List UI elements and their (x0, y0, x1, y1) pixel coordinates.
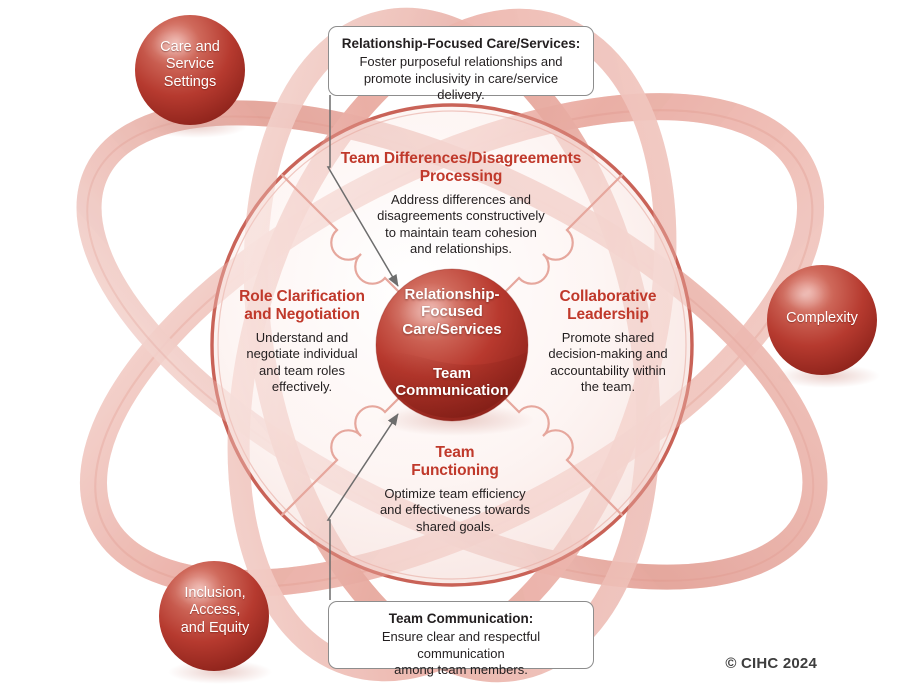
quadrant-body: Promote shared decision-making and accou… (528, 330, 688, 396)
callout-body: Ensure clear and respectful communicatio… (339, 629, 583, 679)
body-line: and effectiveness towards (360, 502, 550, 519)
callout-title: Team Communication: (339, 611, 583, 628)
callout-team-communication: Team Communication: Ensure clear and res… (328, 601, 594, 669)
body-line: to maintain team cohesion (316, 225, 606, 242)
quadrant-title: Team Differences/Disagreements Processin… (316, 150, 606, 186)
quadrant-collaborative-leadership: Collaborative Leadership Promote shared … (528, 288, 688, 396)
callout-title: Relationship-Focused Care/Services: (339, 36, 583, 53)
title-line: Processing (316, 168, 606, 186)
title-line: Leadership (528, 306, 688, 324)
body-line: Promote shared (528, 330, 688, 347)
quadrant-title: Role Clarification and Negotiation (222, 288, 382, 324)
quadrant-body: Address differences and disagreements co… (316, 192, 606, 258)
body-line: decision-making and (528, 346, 688, 363)
callout-body: Foster purposeful relationships and prom… (339, 54, 583, 104)
quadrant-body: Optimize team efficiency and effectivene… (360, 486, 550, 536)
title-line: and Negotiation (222, 306, 382, 324)
sphere-complexity (767, 265, 880, 388)
body-line: the team. (528, 379, 688, 396)
body-line: accountability within (528, 363, 688, 380)
body-line: among team members. (339, 662, 583, 679)
body-line: Understand and (222, 330, 382, 347)
quadrant-team-differences-disagreements-processing: Team Differences/Disagreements Processin… (316, 150, 606, 258)
body-line: Foster purposeful relationships and (339, 54, 583, 71)
body-line: disagreements constructively (316, 208, 606, 225)
title-line: Functioning (360, 462, 550, 480)
body-line: and relationships. (316, 241, 606, 258)
quadrant-role-clarification-and-negotiation: Role Clarification and Negotiation Under… (222, 288, 382, 396)
body-line: and team roles (222, 363, 382, 380)
body-line: negotiate individual (222, 346, 382, 363)
body-line: effectively. (222, 379, 382, 396)
callout-relationship-focused-care-services: Relationship-Focused Care/Services: Fost… (328, 26, 594, 96)
body-line: Optimize team efficiency (360, 486, 550, 503)
diagram-canvas: Care and Service Settings Complexity Inc… (0, 0, 903, 690)
quadrant-team-functioning: Team Functioning Optimize team efficienc… (360, 444, 550, 535)
quadrant-title: Team Functioning (360, 444, 550, 480)
body-line: promote inclusivity in care/service deli… (339, 71, 583, 104)
title-line: Team Differences/Disagreements (316, 150, 606, 168)
title-line: Role Clarification (222, 288, 382, 306)
body-line: Ensure clear and respectful communicatio… (339, 629, 583, 662)
copyright-notice: © CIHC 2024 (725, 655, 817, 672)
body-line: Address differences and (316, 192, 606, 209)
quadrant-title: Collaborative Leadership (528, 288, 688, 324)
body-line: shared goals. (360, 519, 550, 536)
sphere-inclusion-access-and-equity (159, 561, 272, 684)
title-line: Team (360, 444, 550, 462)
title-line: Collaborative (528, 288, 688, 306)
quadrant-body: Understand and negotiate individual and … (222, 330, 382, 396)
